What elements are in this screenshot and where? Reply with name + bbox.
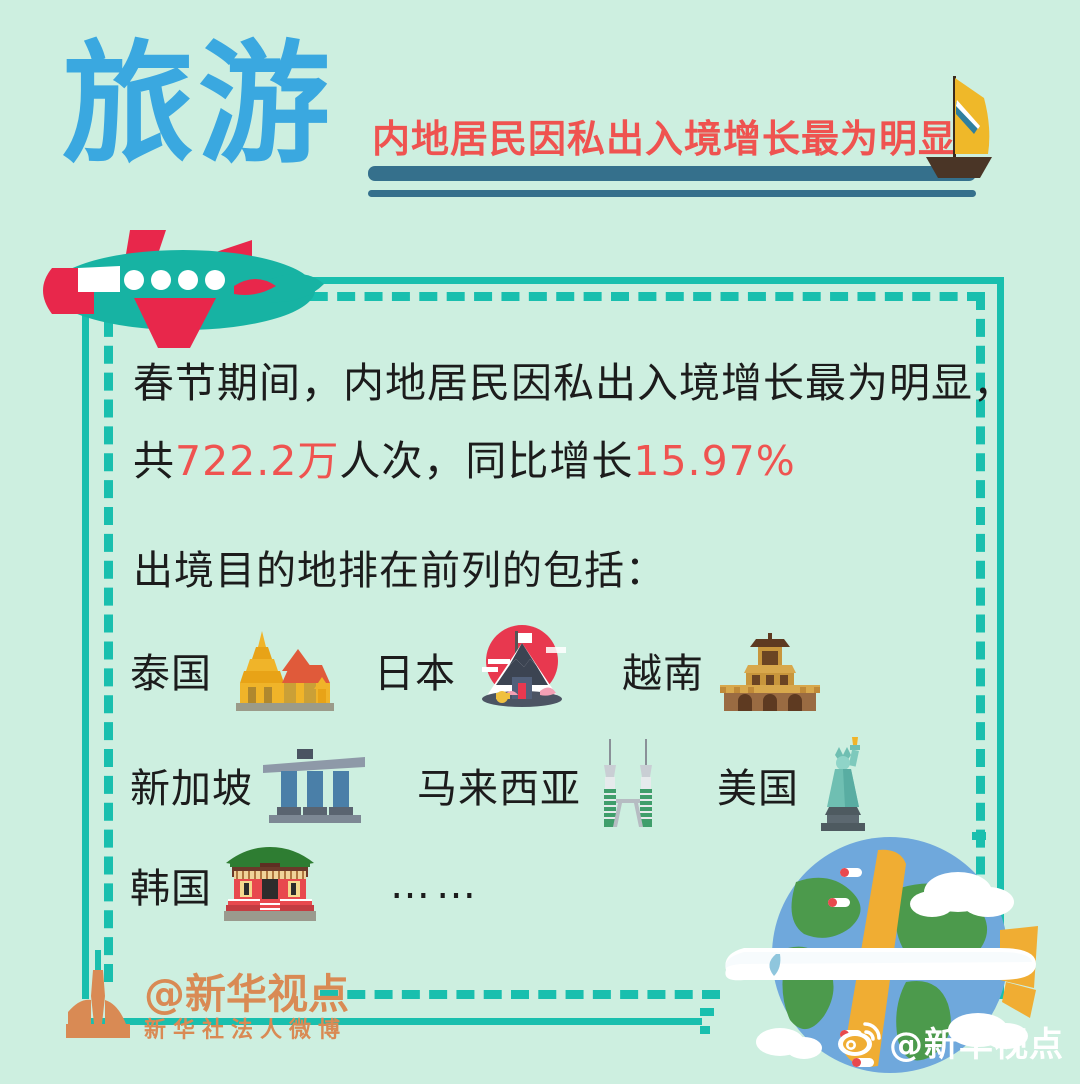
weibo-logo-icon (837, 1022, 881, 1062)
destination-row: 泰国 (130, 625, 830, 715)
frame-dashed-bottom (320, 990, 720, 999)
petronas-towers-icon (591, 737, 665, 833)
marina-bay-sands-icon (259, 743, 369, 827)
destination-row: 韩国 (130, 845, 482, 925)
brand-lockup: @新华视点 新华社法人微博 (62, 950, 349, 1046)
statue-of-liberty-icon (805, 735, 877, 835)
mount-fuji-icon (462, 625, 582, 715)
frame-dashed-top (255, 292, 985, 301)
destination-row: 新加坡 马来西亚 (130, 735, 877, 835)
page-title: 旅游 (62, 40, 334, 170)
destination-label: 韩国 (130, 856, 212, 914)
destination-thailand: 泰国 (130, 625, 338, 715)
destinations-lead-in: 出境目的地排在前列的包括： (133, 538, 666, 596)
header-rule-thick (368, 166, 976, 181)
destination-label: 泰国 (130, 641, 212, 699)
frame-outer-left (82, 277, 89, 999)
destination-singapore: 新加坡 (130, 743, 369, 827)
destination-label: 马来西亚 (417, 756, 581, 814)
body-paragraph: 春节期间，内地居民因私出入境增长最为明显， 共722.2万人次，同比增长15.9… (133, 344, 1015, 500)
destination-label: 新加坡 (130, 756, 253, 814)
destinations-ellipsis: …… (390, 862, 482, 908)
weibo-watermark: @新华视点 (837, 1017, 1064, 1066)
weibo-handle: @新华视点 (889, 1017, 1064, 1066)
stat-growth-percent: 15.97% (633, 437, 795, 485)
paragraph-line-2-prefix: 共 (133, 437, 175, 485)
brand-handle: @新华视点 (144, 972, 349, 1016)
destination-vietnam: 越南 (622, 625, 830, 715)
destination-korea: 韩国 (130, 845, 322, 925)
paragraph-line-2-middle: 人次，同比增长 (339, 437, 633, 485)
destination-label: 越南 (622, 641, 704, 699)
destination-malaysia: 马来西亚 (417, 737, 665, 833)
brand-subtitle: 新华社法人微博 (144, 1016, 349, 1046)
sailboat-icon (900, 58, 1010, 178)
destination-usa: 美国 (717, 735, 877, 835)
korean-gate-icon (218, 845, 322, 925)
airplane-icon (38, 222, 328, 362)
destination-label: 美国 (717, 756, 799, 814)
infographic-canvas: 旅游 内地居民因私出入境增长最为明显 (0, 0, 1080, 1080)
header-rule-thin (368, 190, 976, 197)
page-subtitle: 内地居民因私出入境增长最为明显 (372, 108, 957, 163)
destination-japan: 日本 (374, 625, 582, 715)
paragraph-line-1: 春节期间，内地居民因私出入境增长最为明显， (133, 359, 1015, 407)
destination-label: 日本 (374, 641, 456, 699)
monument-logo-icon (62, 950, 134, 1046)
vietnam-tower-icon (710, 625, 830, 715)
stat-trips-value: 722.2万 (175, 437, 339, 485)
frame-dashed-left (104, 292, 113, 982)
thai-temple-icon (218, 625, 338, 715)
